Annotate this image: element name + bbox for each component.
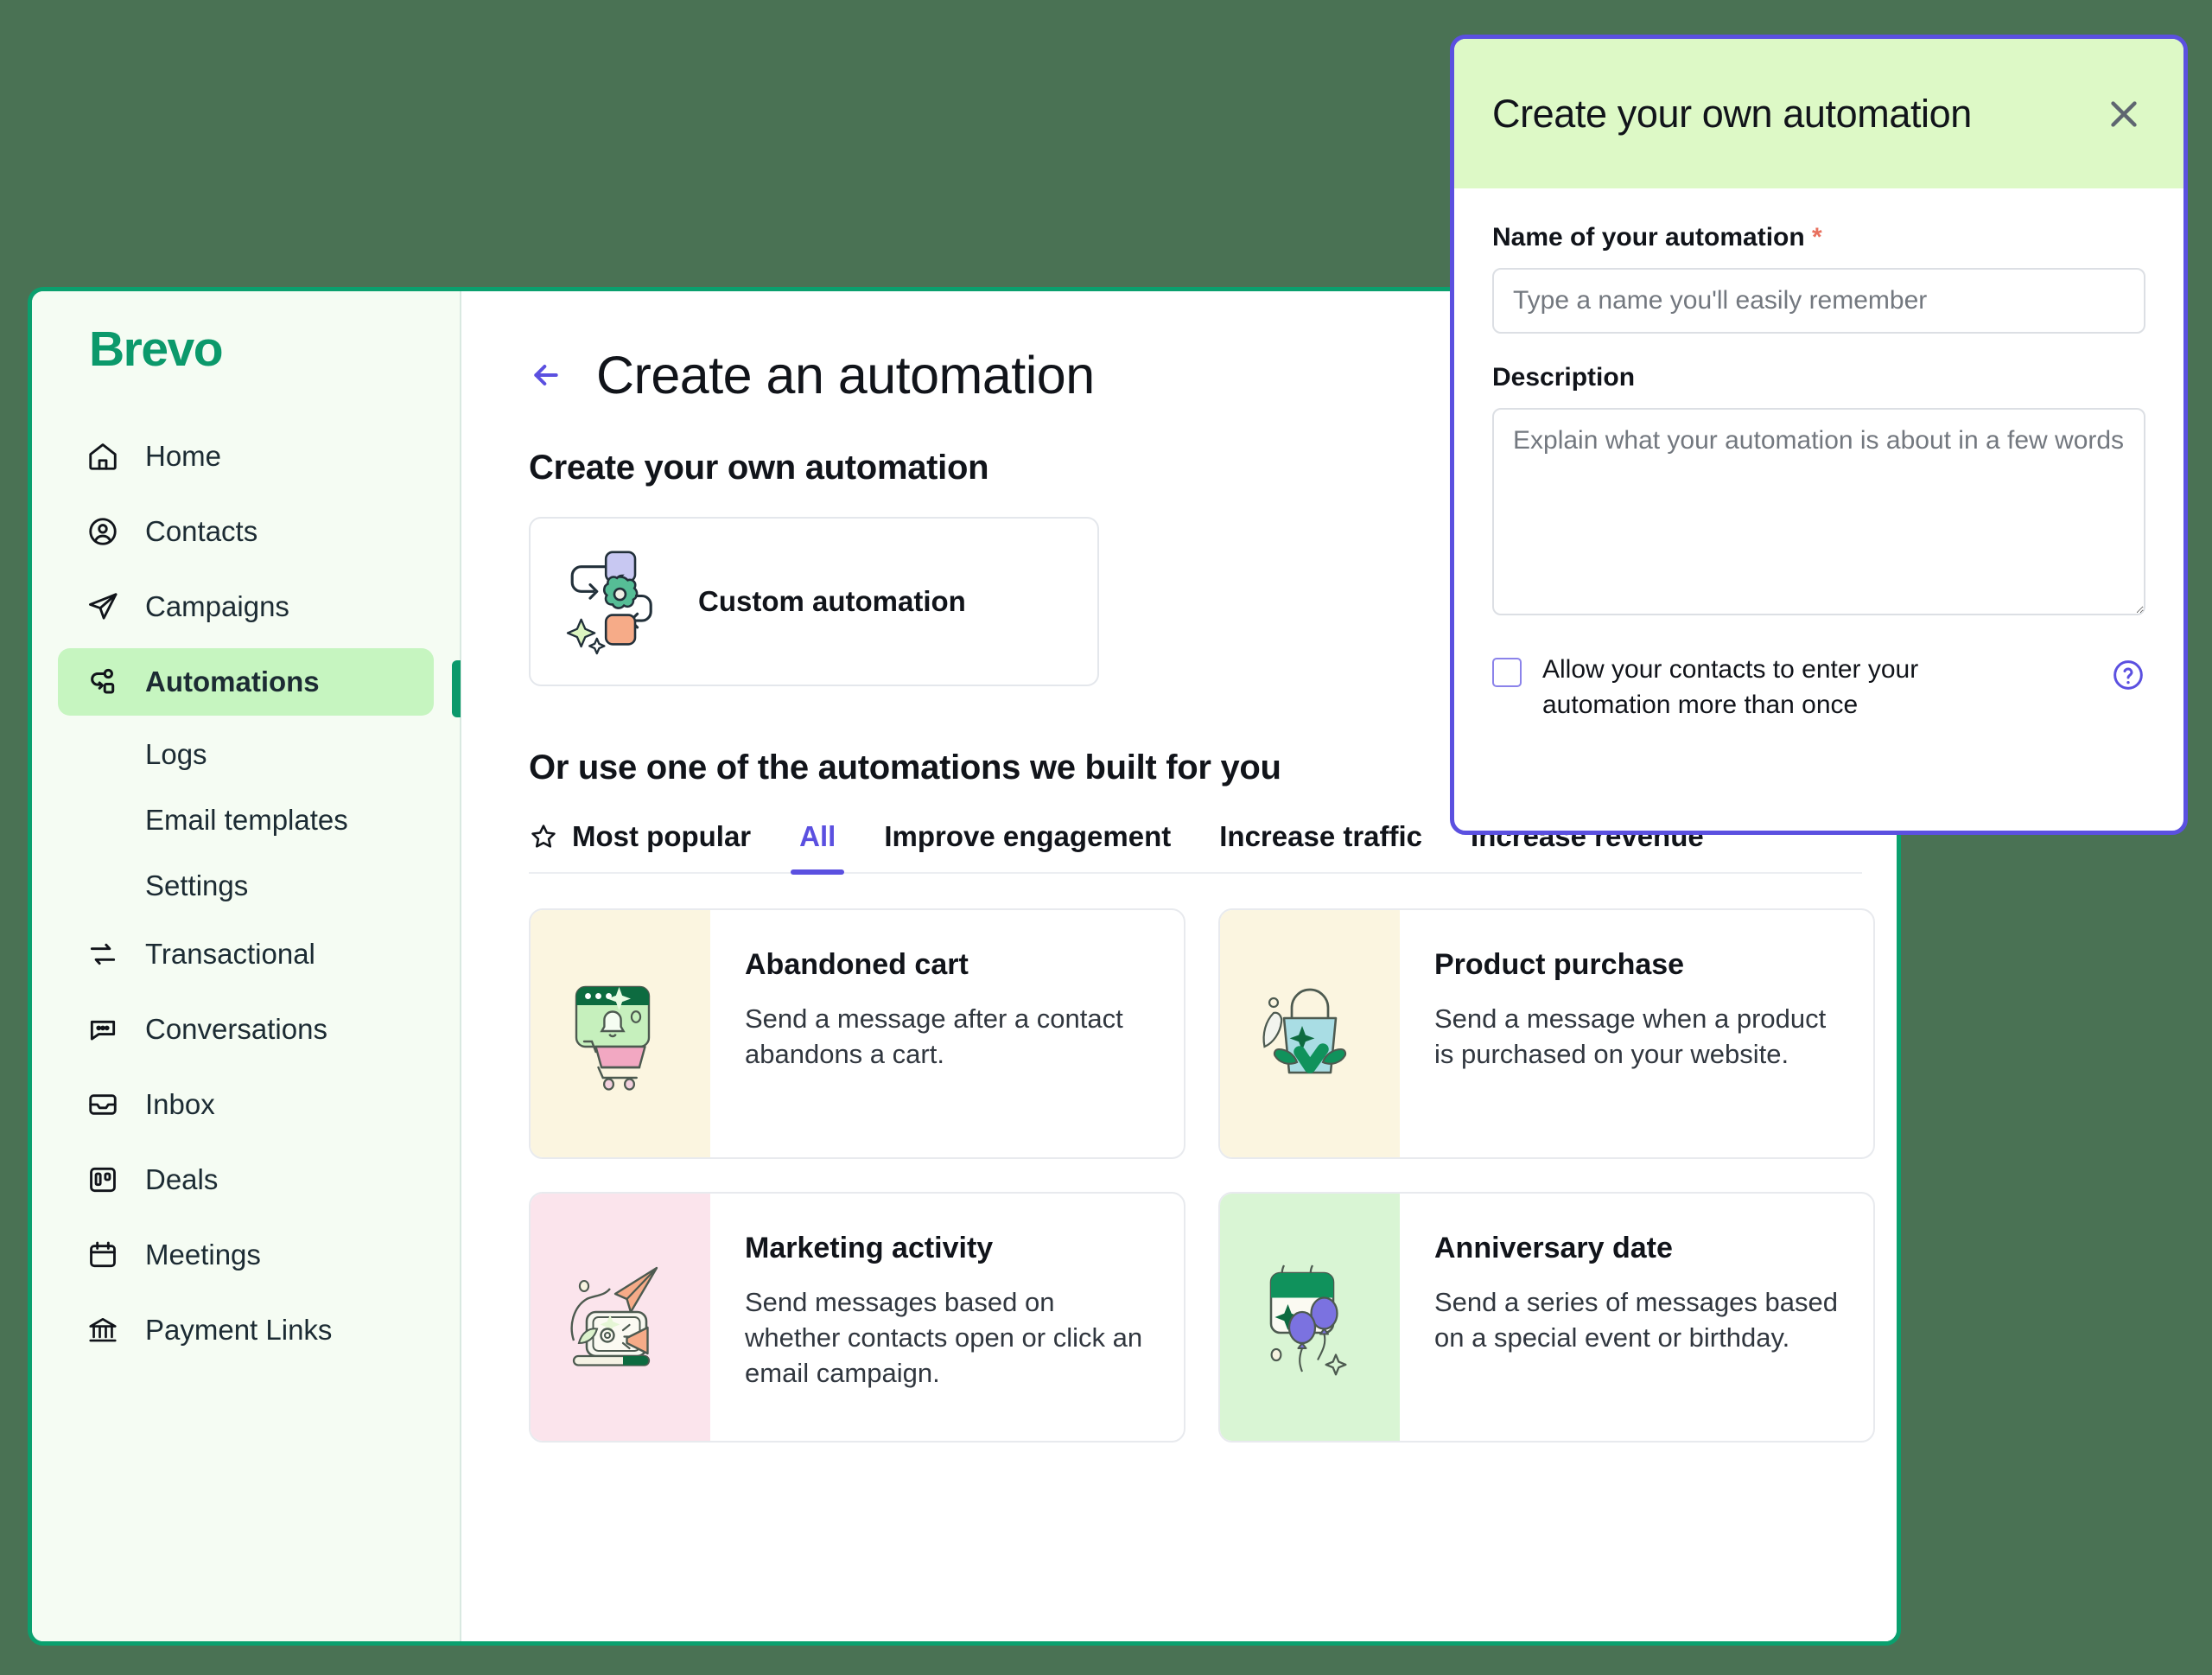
automation-name-input[interactable] [1492, 268, 2145, 334]
sidebar-item-email-templates[interactable]: Email templates [58, 789, 434, 851]
payment-links-icon [86, 1314, 119, 1347]
template-title: Abandoned cart [745, 948, 1153, 982]
sidebar-item-payment-links[interactable]: Payment Links [58, 1296, 434, 1364]
tab-label: All [799, 820, 836, 853]
sidebar: Brevo Home Contacts Campaigns Automa [32, 291, 461, 1641]
modal-title: Create your own automation [1492, 92, 1972, 137]
deals-icon [86, 1163, 119, 1196]
sidebar-item-label: Meetings [145, 1239, 261, 1271]
template-title: Product purchase [1434, 948, 1842, 982]
sidebar-item-inbox[interactable]: Inbox [58, 1071, 434, 1138]
brevo-logo: Brevo [32, 321, 460, 378]
template-thumb [1220, 1194, 1400, 1441]
sidebar-item-contacts[interactable]: Contacts [58, 498, 434, 565]
sidebar-item-label: Home [145, 440, 221, 473]
campaigns-icon [86, 590, 119, 623]
contacts-icon [86, 515, 119, 548]
custom-automation-label: Custom automation [698, 585, 966, 618]
template-card-marketing-activity[interactable]: Marketing activity Send messages based o… [529, 1192, 1185, 1443]
name-field-label: Name of your automation * [1492, 223, 2145, 252]
template-card-anniversary-date[interactable]: Anniversary date Send a series of messag… [1218, 1192, 1875, 1443]
template-card-abandoned-cart[interactable]: Abandoned cart Send a message after a co… [529, 908, 1185, 1159]
template-body: Marketing activity Send messages based o… [710, 1194, 1184, 1441]
sidebar-item-campaigns[interactable]: Campaigns [58, 573, 434, 640]
product-purchase-illustration [1245, 969, 1375, 1099]
sidebar-item-conversations[interactable]: Conversations [58, 996, 434, 1063]
sidebar-item-logs[interactable]: Logs [58, 723, 434, 786]
close-icon[interactable] [2104, 94, 2144, 134]
description-field-label: Description [1492, 363, 2145, 392]
template-description: Send a series of messages based on a spe… [1434, 1284, 1842, 1355]
template-title: Anniversary date [1434, 1232, 1842, 1265]
allow-reentry-checkbox[interactable] [1492, 658, 1522, 687]
sidebar-item-automations[interactable]: Automations [58, 648, 434, 716]
tab-all[interactable]: All [775, 820, 860, 872]
sidebar-item-meetings[interactable]: Meetings [58, 1221, 434, 1289]
sidebar-item-label: Conversations [145, 1013, 327, 1046]
sidebar-item-label: Deals [145, 1163, 218, 1196]
template-description: Send a message when a product is purchas… [1434, 1001, 1842, 1072]
sidebar-item-transactional[interactable]: Transactional [58, 920, 434, 988]
sidebar-item-label: Contacts [145, 515, 257, 548]
create-automation-modal: Create your own automation Name of your … [1450, 35, 2188, 835]
star-icon [529, 822, 558, 851]
template-grid: Abandoned cart Send a message after a co… [529, 908, 1897, 1443]
help-circle-icon[interactable] [2111, 658, 2145, 692]
meetings-icon [86, 1239, 119, 1271]
conversations-icon [86, 1013, 119, 1046]
required-asterisk: * [1812, 223, 1822, 252]
modal-header: Create your own automation [1454, 39, 2183, 188]
sidebar-item-home[interactable]: Home [58, 423, 434, 490]
anniversary-date-illustration [1245, 1252, 1375, 1382]
tab-label: Most popular [572, 820, 751, 853]
modal-body: Name of your automation * Description Al… [1454, 188, 2183, 723]
template-thumb [531, 1194, 710, 1441]
arrow-left-icon[interactable] [529, 358, 563, 392]
tab-improve-engagement[interactable]: Improve engagement [860, 820, 1195, 872]
template-body: Abandoned cart Send a message after a co… [710, 910, 1184, 1157]
custom-automation-illustration [556, 545, 669, 658]
template-body: Anniversary date Send a series of messag… [1400, 1194, 1873, 1441]
sidebar-item-label: Campaigns [145, 590, 289, 623]
sidebar-item-label: Email templates [145, 804, 348, 837]
automations-icon [86, 666, 119, 698]
tab-label: Increase traffic [1219, 820, 1422, 853]
abandoned-cart-illustration [556, 969, 685, 1099]
template-card-product-purchase[interactable]: Product purchase Send a message when a p… [1218, 908, 1875, 1159]
sidebar-item-label: Payment Links [145, 1314, 332, 1347]
automation-description-input[interactable] [1492, 408, 2145, 615]
tab-increase-traffic[interactable]: Increase traffic [1195, 820, 1446, 872]
transactional-icon [86, 938, 119, 971]
sidebar-item-label: Logs [145, 738, 207, 771]
template-description: Send a message after a contact abandons … [745, 1001, 1153, 1072]
sidebar-item-settings[interactable]: Settings [58, 855, 434, 917]
template-title: Marketing activity [745, 1232, 1153, 1265]
template-body: Product purchase Send a message when a p… [1400, 910, 1873, 1157]
tab-label: Improve engagement [884, 820, 1171, 853]
sidebar-active-indicator [452, 660, 461, 717]
home-icon [86, 440, 119, 473]
template-thumb [1220, 910, 1400, 1157]
custom-automation-card[interactable]: Custom automation [529, 517, 1099, 686]
sidebar-item-label: Settings [145, 869, 248, 902]
sidebar-item-label: Inbox [145, 1088, 215, 1121]
marketing-activity-illustration [556, 1252, 685, 1382]
page-title: Create an automation [596, 345, 1095, 405]
allow-reentry-row: Allow your contacts to enter your automa… [1492, 653, 2145, 723]
sidebar-item-deals[interactable]: Deals [58, 1146, 434, 1213]
template-description: Send messages based on whether contacts … [745, 1284, 1153, 1392]
name-label-text: Name of your automation [1492, 223, 1805, 252]
sidebar-item-label: Automations [145, 666, 320, 698]
tab-most-popular[interactable]: Most popular [529, 820, 775, 872]
sidebar-item-label: Transactional [145, 938, 315, 971]
inbox-icon [86, 1088, 119, 1121]
allow-reentry-label: Allow your contacts to enter your automa… [1542, 653, 2026, 723]
template-thumb [531, 910, 710, 1157]
